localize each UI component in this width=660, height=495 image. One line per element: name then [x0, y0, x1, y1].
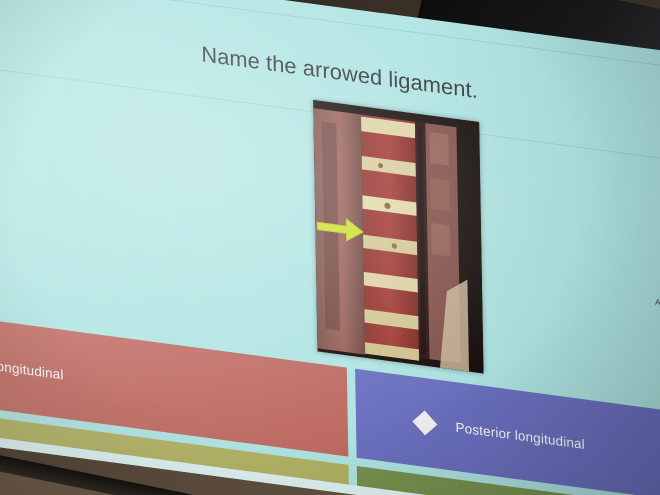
photograph-of-projection-screen: Name the arrowed ligament.: [0, 0, 660, 495]
projected-slide-area: Name the arrowed ligament.: [0, 0, 660, 495]
question-media-image: [313, 100, 483, 374]
diamond-icon: [412, 410, 437, 435]
quiz-screen: Name the arrowed ligament.: [0, 0, 660, 495]
answers-caption: Answers: [640, 295, 660, 313]
answer-option-label: ior longitudinal: [0, 355, 64, 382]
quiz-right-rail: 5 Auto move Skip 0% Answers: [624, 138, 660, 148]
answer-option-label: Posterior longitudinal: [455, 419, 585, 452]
timer-caption: Auto move: [656, 168, 660, 180]
